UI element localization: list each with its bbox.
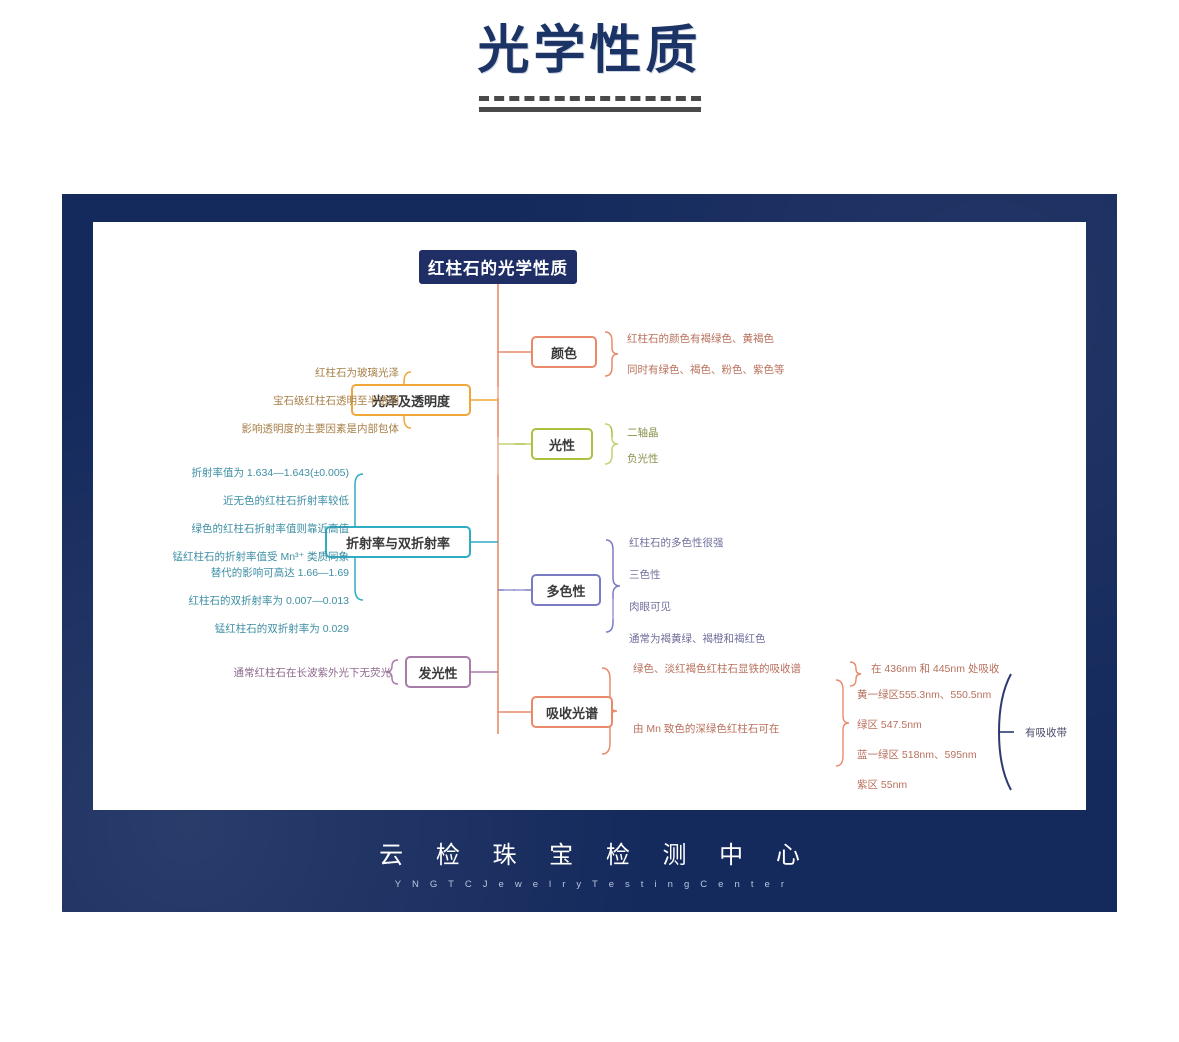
page-title-block: 光学性质 [0,22,1179,112]
node-absorption[interactable]: 吸收光谱 [531,696,613,728]
node-root-label: 红柱石的光学性质 [428,255,568,279]
leaf-luster-0: 红柱石为玻璃光泽 [179,366,399,380]
node-absorption-label: 吸收光谱 [546,703,598,722]
leaf-luster-1: 宝石级红柱石透明至半透明 [179,394,399,408]
leaf-absorption-mn-1: 绿区 547.5nm [857,718,922,732]
node-optic-label: 光性 [549,435,575,454]
leaf-optic-0: 二轴晶 [627,426,659,440]
leaf-refraction-6: 锰红柱石的双折射率为 0.029 [129,622,349,636]
leaf-absorption-tail: 有吸收带 [1025,726,1067,740]
node-luminescence-label: 发光性 [418,663,457,682]
mindmap-card: YNGTC [62,194,1117,912]
node-pleochroism-label: 多色性 [546,581,585,600]
footer-title-cn: 云 检 珠 宝 检 测 中 心 [62,835,1117,870]
node-optic[interactable]: 光性 [531,428,593,460]
page-root: 光学性质 YNGTC [0,0,1179,1042]
leaf-optic-1: 负光性 [627,452,659,466]
node-pleochroism[interactable]: 多色性 [531,574,601,606]
leaf-refraction-2: 绿色的红柱石折射率值则靠近高值 [129,522,349,536]
node-root[interactable]: 红柱石的光学性质 [419,250,577,284]
leaf-pleochroism-1: 三色性 [629,568,661,582]
leaf-absorption-1: 由 Mn 致色的深绿色红柱石可在 [633,722,779,736]
leaf-absorption-mn-3: 紫区 55nm [857,778,907,792]
page-title: 光学性质 [0,22,1179,82]
leaf-color-1: 同时有绿色、褐色、粉色、紫色等 [627,363,785,377]
leaf-luster-2: 影响透明度的主要因素是内部包体 [179,422,399,436]
node-color[interactable]: 颜色 [531,336,597,368]
leaf-pleochroism-0: 红柱石的多色性很强 [629,536,724,550]
node-refraction-label: 折射率与双折射率 [346,533,450,552]
mindmap-panel: YNGTC [93,222,1086,810]
footer-title-en: Y N G T C J e w e l r y T e s t i n g C … [62,879,1117,890]
leaf-color-0: 红柱石的颜色有褐绿色、黄褐色 [627,332,774,346]
leaf-refraction-5: 红柱石的双折射率为 0.007—0.013 [129,594,349,608]
node-color-label: 颜色 [551,343,577,362]
footer-block: 云 检 珠 宝 检 测 中 心 Y N G T C J e w e l r y … [62,835,1117,890]
leaf-pleochroism-3: 通常为褐黄绿、褐橙和褐红色 [629,632,766,646]
leaf-absorption-0: 绿色、淡红褐色红柱石显铁的吸收谱 [633,662,801,676]
leaf-pleochroism-2: 肉眼可见 [629,600,671,614]
leaf-absorption-mn-2: 蓝一绿区 518nm、595nm [857,748,977,762]
node-luminescence[interactable]: 发光性 [405,656,471,688]
title-dashed-rule [479,96,701,101]
leaf-absorption-mn-0: 黄一绿区555.3nm、550.5nm [857,688,991,702]
leaf-refraction-4: 替代的影响可高达 1.66—1.69 [129,566,349,580]
leaf-luminescence-0: 通常红柱石在长波紫外光下无荧光 [173,666,391,680]
leaf-refraction-0: 折射率值为 1.634—1.643(±0.005) [129,466,349,480]
title-solid-rule [479,107,701,112]
leaf-absorption-iron-0: 在 436nm 和 445nm 处吸收 [871,662,999,676]
leaf-refraction-1: 近无色的红柱石折射率较低 [129,494,349,508]
leaf-refraction-3: 锰红柱石的折射率值受 Mn³⁺ 类质同象 [129,550,349,564]
